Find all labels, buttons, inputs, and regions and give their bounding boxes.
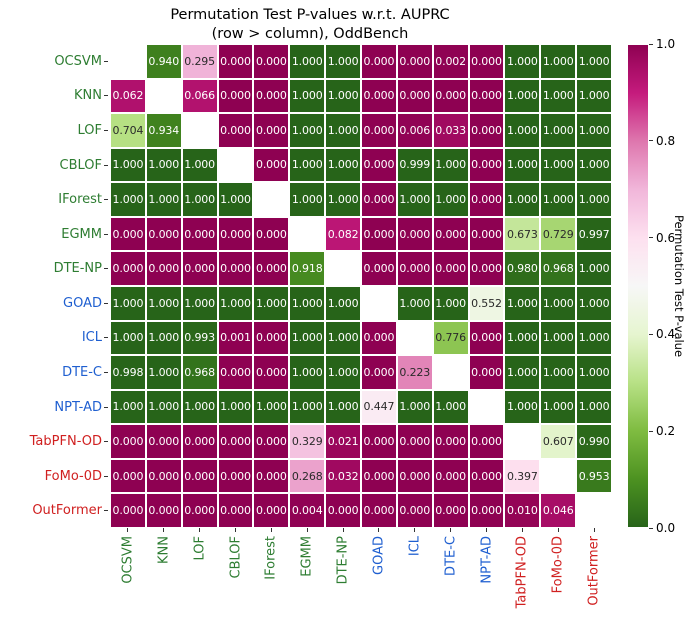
heatmap-cell: 0.552: [469, 286, 505, 321]
heatmap-cell: 0.021: [325, 424, 361, 459]
heatmap-cell: 0.000: [110, 493, 146, 528]
heatmap-cell: 0.032: [325, 459, 361, 494]
heatmap-cell: 1.000: [576, 44, 612, 79]
heatmap-cell: 0.000: [110, 217, 146, 252]
heatmap-cell: 1.000: [325, 44, 361, 79]
heatmap-cell: 0.997: [576, 217, 612, 252]
heatmap-cell: 0.000: [469, 217, 505, 252]
heatmap-cell-diagonal: [253, 182, 289, 217]
heatmap-cell: 0.000: [361, 251, 397, 286]
heatmap-cell: 0.000: [469, 355, 505, 390]
column-label-goad: GOAD: [372, 536, 385, 575]
heatmap-cell: 0.046: [540, 493, 576, 528]
column-tick-mark: [325, 528, 361, 534]
heatmap-cell: 1.000: [146, 182, 182, 217]
heatmap-cell: 1.000: [433, 182, 469, 217]
heatmap-cell: 0.934: [146, 113, 182, 148]
heatmap-cell: 1.000: [540, 79, 576, 114]
heatmap-cell: 0.000: [182, 424, 218, 459]
heatmap-cell: 0.000: [469, 493, 505, 528]
heatmap-cell: 1.000: [325, 148, 361, 183]
heatmap-cell: 0.776: [433, 321, 469, 356]
heatmap-cell: 1.000: [146, 390, 182, 425]
heatmap-cell: 1.000: [182, 182, 218, 217]
heatmap-cell: 0.000: [218, 79, 254, 114]
column-label-cblof: CBLOF: [229, 536, 242, 579]
heatmap-cell: 1.000: [540, 321, 576, 356]
heatmap-cell: 1.000: [504, 113, 540, 148]
heatmap-cell: 1.000: [182, 286, 218, 321]
heatmap-cell: 0.000: [469, 182, 505, 217]
heatmap-cell: 1.000: [289, 148, 325, 183]
heatmap-cell: 0.953: [576, 459, 612, 494]
heatmap-cell: 0.000: [253, 493, 289, 528]
heatmap-cell: 1.000: [110, 286, 146, 321]
heatmap-cell: 1.000: [540, 390, 576, 425]
heatmap-cell: 1.000: [504, 355, 540, 390]
row-label-fomo-0d: FoMo-0D: [0, 459, 104, 494]
heatmap-cell: 0.000: [361, 355, 397, 390]
heatmap-cell-diagonal: [110, 44, 146, 79]
heatmap-cell: 0.002: [433, 44, 469, 79]
heatmap-cell: 0.000: [110, 424, 146, 459]
heatmap-cell: 1.000: [576, 148, 612, 183]
heatmap-cell: 1.000: [325, 286, 361, 321]
column-label-slot: DTE-C: [433, 536, 469, 640]
heatmap-cell: 1.000: [433, 148, 469, 183]
heatmap-cell: 1.000: [576, 113, 612, 148]
heatmap-cell-diagonal: [325, 251, 361, 286]
heatmap-cell-diagonal: [361, 286, 397, 321]
heatmap-cell: 0.000: [361, 182, 397, 217]
heatmap-cell: 1.000: [504, 182, 540, 217]
heatmap-cell: 1.000: [146, 321, 182, 356]
column-tick-mark: [504, 528, 540, 534]
colorbar-gradient: [627, 44, 649, 528]
heatmap-cell: 0.000: [361, 459, 397, 494]
column-tick-mark: [361, 528, 397, 534]
heatmap-cell: 0.082: [325, 217, 361, 252]
column-label-outformer: OutFormer: [588, 536, 601, 606]
heatmap-cell: 0.000: [182, 459, 218, 494]
heatmap-cell: 0.940: [146, 44, 182, 79]
heatmap-cell: 1.000: [540, 355, 576, 390]
heatmap-cell: 1.000: [110, 390, 146, 425]
row-axis-labels: OCSVMKNNLOFCBLOFIForestEGMMDTE-NPGOADICL…: [0, 44, 104, 528]
heatmap-cell: 1.000: [433, 390, 469, 425]
heatmap-cell: 1.000: [576, 390, 612, 425]
row-label-tabpfn-od: TabPFN-OD: [0, 424, 104, 459]
heatmap-cell: 0.000: [253, 217, 289, 252]
heatmap-cell: 0.980: [504, 251, 540, 286]
heatmap-cell: 0.000: [218, 113, 254, 148]
heatmap-cell: 1.000: [253, 286, 289, 321]
heatmap-cell: 0.010: [504, 493, 540, 528]
heatmap-cell: 1.000: [504, 390, 540, 425]
heatmap-cell: 0.968: [540, 251, 576, 286]
column-label-egmm: EGMM: [301, 536, 314, 577]
heatmap-cell: 1.000: [576, 251, 612, 286]
heatmap-cell: 0.000: [218, 44, 254, 79]
heatmap-cell: 0.295: [182, 44, 218, 79]
heatmap-cell: 0.000: [397, 459, 433, 494]
heatmap-cell: 1.000: [540, 148, 576, 183]
heatmap-cell: 1.000: [110, 148, 146, 183]
heatmap-cell: 1.000: [289, 79, 325, 114]
heatmap-cell: 1.000: [325, 321, 361, 356]
heatmap-cell: 0.990: [576, 424, 612, 459]
column-tick-mark: [469, 528, 505, 534]
heatmap-cell: 0.000: [433, 459, 469, 494]
heatmap-cell: 1.000: [540, 44, 576, 79]
heatmap-cell: 0.397: [504, 459, 540, 494]
heatmap-cell: 0.000: [325, 493, 361, 528]
heatmap-cell: 0.000: [397, 251, 433, 286]
heatmap-cell-diagonal: [146, 79, 182, 114]
heatmap-cell: 0.000: [433, 79, 469, 114]
heatmap-cell-diagonal: [540, 459, 576, 494]
heatmap-cell: 0.000: [253, 79, 289, 114]
heatmap-cell: 1.000: [540, 182, 576, 217]
heatmap-cell-diagonal: [433, 355, 469, 390]
heatmap-cell: 1.000: [504, 321, 540, 356]
column-tick-mark: [289, 528, 325, 534]
heatmap-cell: 0.000: [397, 493, 433, 528]
heatmap-cell: 0.000: [253, 148, 289, 183]
heatmap-cell: 1.000: [540, 113, 576, 148]
heatmap-cell: 1.000: [397, 182, 433, 217]
heatmap-cell: 1.000: [325, 182, 361, 217]
heatmap-cell-diagonal: [182, 113, 218, 148]
heatmap-cell: 0.000: [433, 251, 469, 286]
heatmap-cell: 1.000: [325, 390, 361, 425]
column-tick-mark: [253, 528, 289, 534]
heatmap-cell-diagonal: [576, 493, 612, 528]
heatmap-cell: 0.968: [182, 355, 218, 390]
heatmap-cell: 1.000: [218, 182, 254, 217]
heatmap-cell: 1.000: [576, 182, 612, 217]
heatmap-cell: 0.000: [469, 251, 505, 286]
row-label-dte-np: DTE-NP: [0, 251, 104, 286]
heatmap-cell: 1.000: [576, 286, 612, 321]
heatmap-cell: 0.000: [361, 321, 397, 356]
column-tick-mark: [576, 528, 612, 534]
heatmap-cell: 0.000: [361, 217, 397, 252]
heatmap-cell: 0.268: [289, 459, 325, 494]
heatmap-cell: 0.000: [218, 493, 254, 528]
heatmap-cell: 1.000: [504, 286, 540, 321]
heatmap-cell: 0.000: [361, 44, 397, 79]
heatmap-cell: 0.000: [469, 44, 505, 79]
column-label-slot: TabPFN-OD: [504, 536, 540, 640]
column-label-slot: LOF: [182, 536, 218, 640]
heatmap-cell: 0.000: [182, 493, 218, 528]
heatmap-cell: 0.999: [397, 148, 433, 183]
heatmap-cell: 1.000: [289, 182, 325, 217]
row-label-knn: KNN: [0, 79, 104, 114]
heatmap-cell: 0.000: [253, 44, 289, 79]
column-tick-mark: [110, 528, 146, 534]
heatmap-cell: 0.000: [146, 424, 182, 459]
heatmap-cell: 0.704: [110, 113, 146, 148]
heatmap-cell: 0.000: [110, 459, 146, 494]
heatmap-cell: 0.918: [289, 251, 325, 286]
heatmap-cell: 1.000: [218, 286, 254, 321]
column-label-slot: IForest: [253, 536, 289, 640]
heatmap-cell: 1.000: [110, 182, 146, 217]
heatmap-cell: 1.000: [504, 148, 540, 183]
row-label-icl: ICL: [0, 321, 104, 356]
heatmap-figure: Permutation Test P-values w.r.t. AUPRC (…: [0, 0, 697, 642]
column-label-slot: FoMo-0D: [540, 536, 576, 640]
heatmap-cell: 1.000: [540, 286, 576, 321]
heatmap-cell: 0.998: [110, 355, 146, 390]
heatmap-cell: 1.000: [253, 390, 289, 425]
heatmap-cell: 0.447: [361, 390, 397, 425]
heatmap-cell: 0.000: [110, 251, 146, 286]
heatmap-cell: 0.000: [397, 424, 433, 459]
heatmap-cell: 0.993: [182, 321, 218, 356]
heatmap-cell: 1.000: [146, 355, 182, 390]
heatmap-cell: 1.000: [289, 113, 325, 148]
column-label-fomo-0d: FoMo-0D: [552, 536, 565, 593]
heatmap-cell: 1.000: [289, 390, 325, 425]
column-label-dte-c: DTE-C: [444, 536, 457, 576]
heatmap-cell: 0.607: [540, 424, 576, 459]
heatmap-cell: 0.000: [218, 251, 254, 286]
column-label-slot: EGMM: [289, 536, 325, 640]
heatmap-cell: 0.001: [218, 321, 254, 356]
column-label-iforest: IForest: [265, 536, 278, 580]
heatmap-cell: 0.000: [218, 217, 254, 252]
column-label-tabpfn-od: TabPFN-OD: [516, 536, 529, 608]
heatmap-cell: 0.673: [504, 217, 540, 252]
heatmap-cell: 0.000: [469, 459, 505, 494]
heatmap-cell: 0.000: [361, 493, 397, 528]
heatmap-cell: 1.000: [325, 113, 361, 148]
heatmap-cell: 1.000: [110, 321, 146, 356]
heatmap-cell: 1.000: [289, 355, 325, 390]
heatmap-cell: 0.329: [289, 424, 325, 459]
heatmap-cell: 0.000: [469, 424, 505, 459]
heatmap-cell: 0.000: [361, 113, 397, 148]
heatmap-cell: 1.000: [289, 286, 325, 321]
heatmap-cell: 0.033: [433, 113, 469, 148]
heatmap-cell-diagonal: [218, 148, 254, 183]
heatmap-cell: 0.000: [218, 459, 254, 494]
heatmap-cell: 0.000: [253, 459, 289, 494]
heatmap-cell: 0.000: [361, 148, 397, 183]
column-label-icl: ICL: [408, 536, 421, 556]
heatmap-cell: 0.000: [469, 79, 505, 114]
column-tick-mark: [218, 528, 254, 534]
heatmap-cell: 1.000: [433, 286, 469, 321]
heatmap-cell: 0.000: [361, 79, 397, 114]
heatmap-cell: 0.000: [361, 424, 397, 459]
heatmap-cell: 0.000: [469, 148, 505, 183]
heatmap-cell: 0.000: [397, 217, 433, 252]
heatmap-cell: 1.000: [504, 44, 540, 79]
heatmap-cell: 1.000: [325, 355, 361, 390]
heatmap-cell: 0.000: [469, 113, 505, 148]
column-tick-mark: [397, 528, 433, 534]
heatmap-cell: 0.223: [397, 355, 433, 390]
heatmap-cell: 0.066: [182, 79, 218, 114]
heatmap-cell: 0.000: [218, 355, 254, 390]
heatmap-cell-diagonal: [397, 321, 433, 356]
column-label-npt-ad: NPT-AD: [480, 536, 493, 584]
column-tick-mark: [182, 528, 218, 534]
heatmap-cell-diagonal: [469, 390, 505, 425]
heatmap-cell: 0.000: [182, 217, 218, 252]
column-axis-labels: OCSVMKNNLOFCBLOFIForestEGMMDTE-NPGOADICL…: [110, 536, 612, 640]
row-label-ocsvm: OCSVM: [0, 44, 104, 79]
heatmap-cell: 0.000: [469, 321, 505, 356]
heatmap-cell: 0.000: [253, 251, 289, 286]
column-label-slot: GOAD: [361, 536, 397, 640]
heatmap-cell: 0.000: [146, 493, 182, 528]
heatmap-cell: 0.004: [289, 493, 325, 528]
heatmap-cell: 0.000: [433, 217, 469, 252]
heatmap-cell: 1.000: [182, 148, 218, 183]
row-label-cblof: CBLOF: [0, 148, 104, 183]
heatmap-cell: 1.000: [576, 321, 612, 356]
heatmap-cell: 1.000: [576, 79, 612, 114]
column-label-slot: OutFormer: [576, 536, 612, 640]
row-label-iforest: IForest: [0, 182, 104, 217]
heatmap-cell: 1.000: [182, 390, 218, 425]
column-label-slot: KNN: [146, 536, 182, 640]
column-label-lof: LOF: [193, 536, 206, 561]
heatmap-cell: 0.000: [397, 44, 433, 79]
heatmap-cell: 1.000: [218, 390, 254, 425]
heatmap-cell: 1.000: [576, 355, 612, 390]
column-tick-mark: [433, 528, 469, 534]
colorbar-label-text: Permutation Test P-value: [672, 215, 686, 357]
row-label-npt-ad: NPT-AD: [0, 390, 104, 425]
row-label-outformer: OutFormer: [0, 494, 104, 529]
row-label-goad: GOAD: [0, 286, 104, 321]
column-label-slot: OCSVM: [110, 536, 146, 640]
column-label-slot: NPT-AD: [469, 536, 505, 640]
heatmap-cell: 0.000: [146, 217, 182, 252]
heatmap-cell: 0.000: [433, 424, 469, 459]
heatmap-cell: 1.000: [325, 79, 361, 114]
heatmap-cell: 0.000: [182, 251, 218, 286]
column-label-knn: KNN: [157, 536, 170, 564]
heatmap-cell: 0.062: [110, 79, 146, 114]
heatmap-cell: 1.000: [146, 286, 182, 321]
column-axis-ticks: [110, 528, 612, 534]
heatmap-cell: 1.000: [146, 148, 182, 183]
column-tick-mark: [146, 528, 182, 534]
column-label-slot: DTE-NP: [325, 536, 361, 640]
heatmap-cell: 1.000: [397, 390, 433, 425]
row-label-dte-c: DTE-C: [0, 355, 104, 390]
heatmap-cell: 1.000: [289, 44, 325, 79]
row-label-egmm: EGMM: [0, 217, 104, 252]
heatmap-cell-diagonal: [504, 424, 540, 459]
heatmap-cell: 0.000: [146, 459, 182, 494]
heatmap-cell: 0.000: [253, 321, 289, 356]
heatmap-cell-diagonal: [289, 217, 325, 252]
heatmap-cell: 1.000: [289, 321, 325, 356]
heatmap-cell: 0.000: [253, 424, 289, 459]
column-label-ocsvm: OCSVM: [121, 536, 134, 584]
column-label-slot: CBLOF: [218, 536, 254, 640]
colorbar-axis-label: Permutation Test P-value: [669, 44, 689, 528]
heatmap-cell: 1.000: [397, 286, 433, 321]
heatmap-cell: 0.000: [146, 251, 182, 286]
heatmap-cell: 0.000: [218, 424, 254, 459]
column-label-dte-np: DTE-NP: [337, 536, 350, 584]
row-label-lof: LOF: [0, 113, 104, 148]
heatmap-cell: 0.000: [397, 79, 433, 114]
chart-title: Permutation Test P-values w.r.t. AUPRC (…: [0, 6, 620, 43]
heatmap-grid: 0.9400.2950.0000.0001.0001.0000.0000.000…: [110, 44, 612, 528]
heatmap-cell: 0.006: [397, 113, 433, 148]
heatmap-cell: 0.000: [433, 493, 469, 528]
column-label-slot: ICL: [397, 536, 433, 640]
heatmap-cell: 1.000: [504, 79, 540, 114]
heatmap-cell: 0.000: [253, 355, 289, 390]
heatmap-cell: 0.729: [540, 217, 576, 252]
heatmap-cell: 0.000: [253, 113, 289, 148]
heatmap-plot-area: 0.9400.2950.0000.0001.0001.0000.0000.000…: [110, 44, 612, 528]
column-tick-mark: [540, 528, 576, 534]
